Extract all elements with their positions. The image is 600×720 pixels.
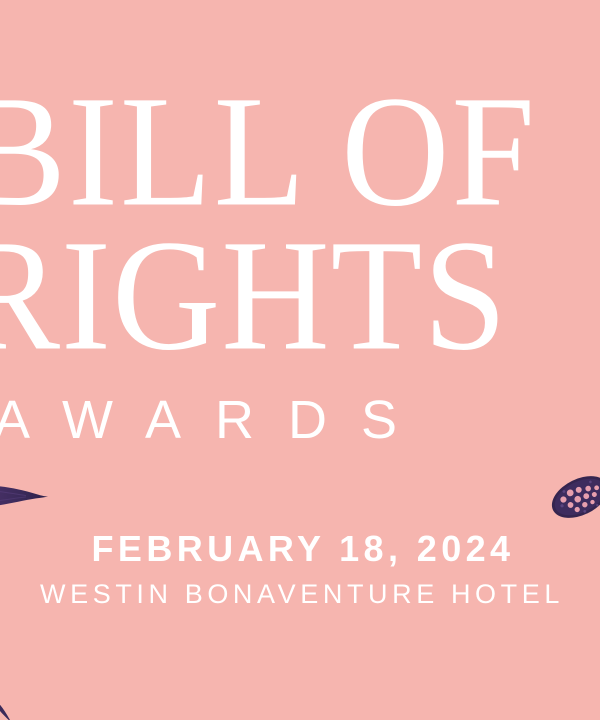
dried-leaf-icon: [0, 483, 48, 509]
headline-line-rights: RIGHTS: [0, 216, 508, 375]
headline-line-awards: AWARDS: [0, 393, 431, 447]
dried-flower-cluster-icon: [548, 466, 600, 528]
event-details: FEBRUARY 18, 2024 WESTIN BONAVENTURE HOT…: [0, 528, 600, 611]
event-poster: BILL OF RIGHTS AWARDS FEBRUARY 18, 2024 …: [0, 0, 600, 720]
leaf-tip-icon: [0, 694, 20, 720]
event-venue: WESTIN BONAVENTURE HOTEL: [0, 578, 600, 610]
event-date: FEBRUARY 18, 2024: [0, 528, 600, 570]
